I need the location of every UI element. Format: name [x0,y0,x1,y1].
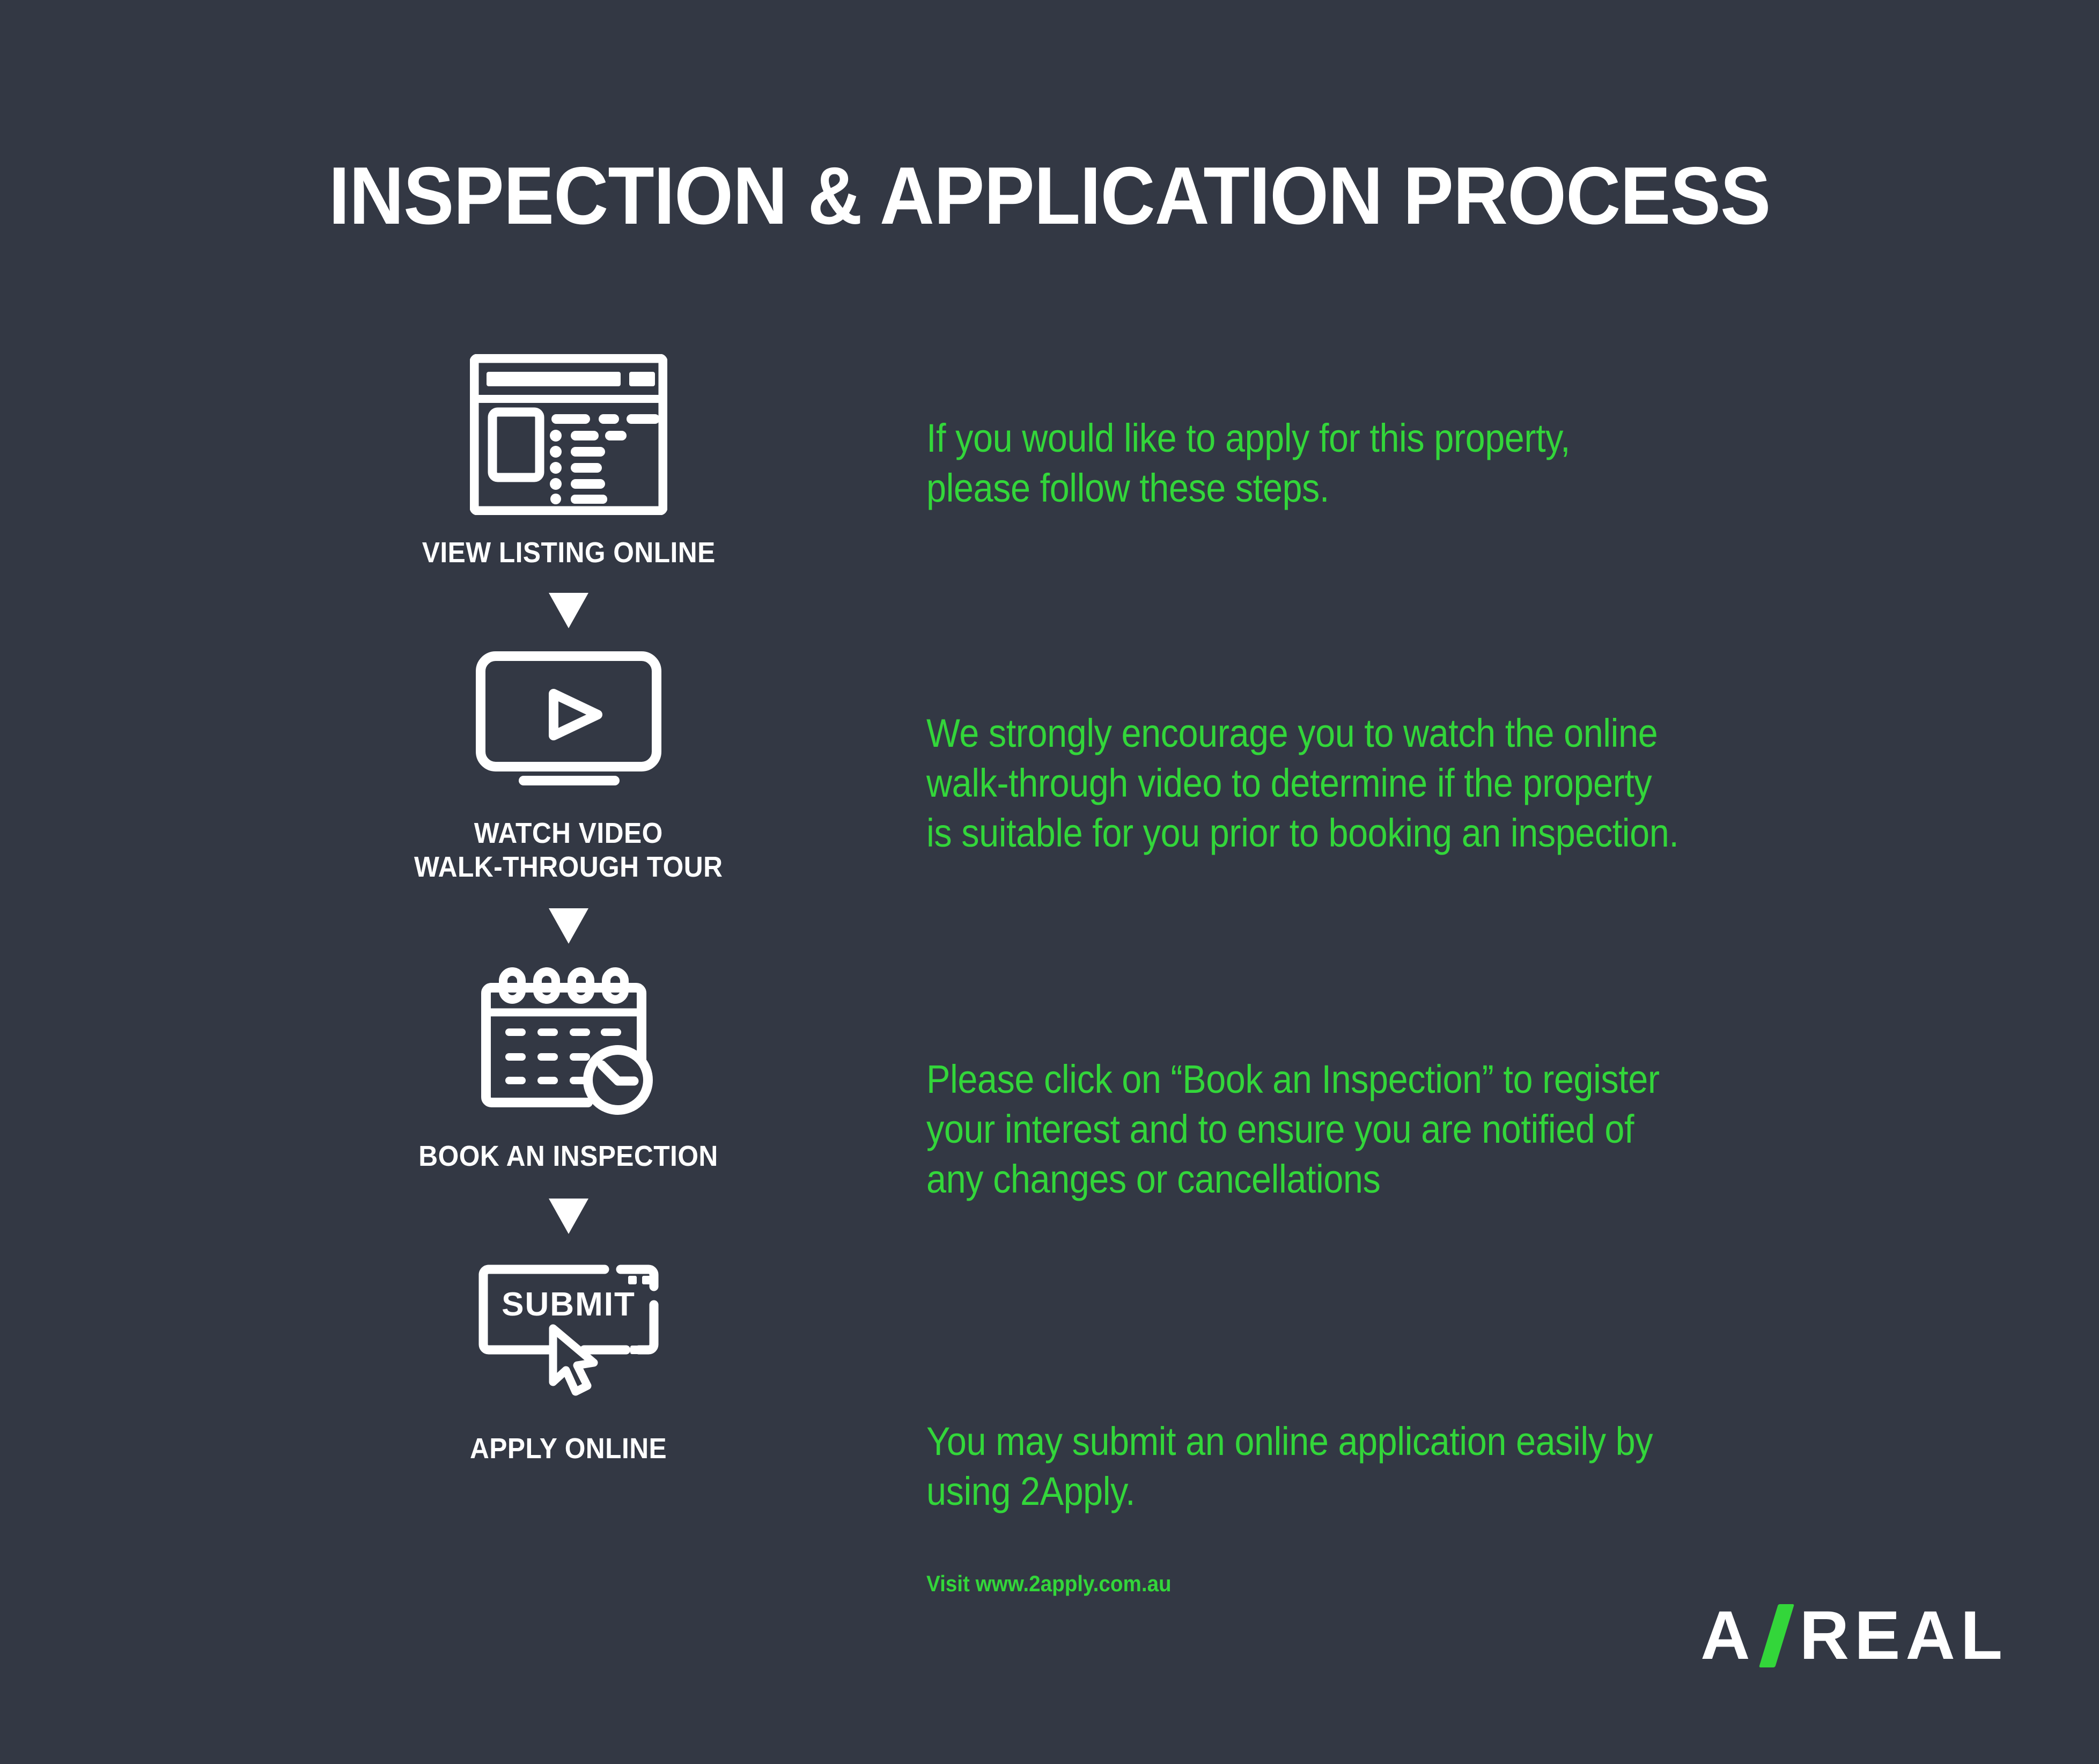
step-label: WATCH VIDEO WALK-THROUGH TOUR [414,817,723,885]
step-label: VIEW LISTING ONLINE [422,536,716,570]
step-description-book-inspection: Please click on “Book an Inspection” to … [926,1054,1916,1204]
listing-window-icon [470,354,667,518]
step-view-listing-online: VIEW LISTING ONLINE [343,354,794,570]
step-description-watch-video: We strongly encourage you to watch the o… [926,708,1940,858]
step-description-apply-online: You may submit an online application eas… [926,1416,1892,1516]
page-title: INSPECTION & APPLICATION PROCESS [73,153,2026,239]
video-play-monitor-icon [474,650,663,798]
step-apply-online: SUBMIT APPLY ONLINE [343,1255,794,1466]
flow-arrow-3 [343,1199,794,1234]
logo-slash-icon [1759,1604,1794,1667]
step-label: APPLY ONLINE [470,1432,667,1466]
areal-logo: A REAL [1700,1601,2008,1670]
triangle-down-icon [549,1199,588,1234]
calendar-clock-icon [477,963,660,1121]
triangle-down-icon [549,908,588,944]
visit-2apply-link[interactable]: Visit www.2apply.com.au [926,1571,1172,1597]
submit-button-cursor-icon: SUBMIT [469,1255,668,1414]
step-book-inspection: BOOK AN INSPECTION [343,963,794,1174]
logo-letter-a: A [1700,1601,1755,1670]
flow-arrow-1 [343,593,794,628]
svg-text:SUBMIT: SUBMIT [502,1286,636,1323]
flow-arrow-2 [343,908,794,944]
step-description-view-listing: If you would like to apply for this prop… [926,413,1844,513]
triangle-down-icon [549,593,588,628]
process-flow-column: VIEW LISTING ONLINE WATCH VIDEO WALK-THR… [343,354,794,1466]
logo-word-real: REAL [1800,1601,2008,1670]
step-label: BOOK AN INSPECTION [419,1140,718,1174]
step-watch-video: WATCH VIDEO WALK-THROUGH TOUR [343,650,794,885]
